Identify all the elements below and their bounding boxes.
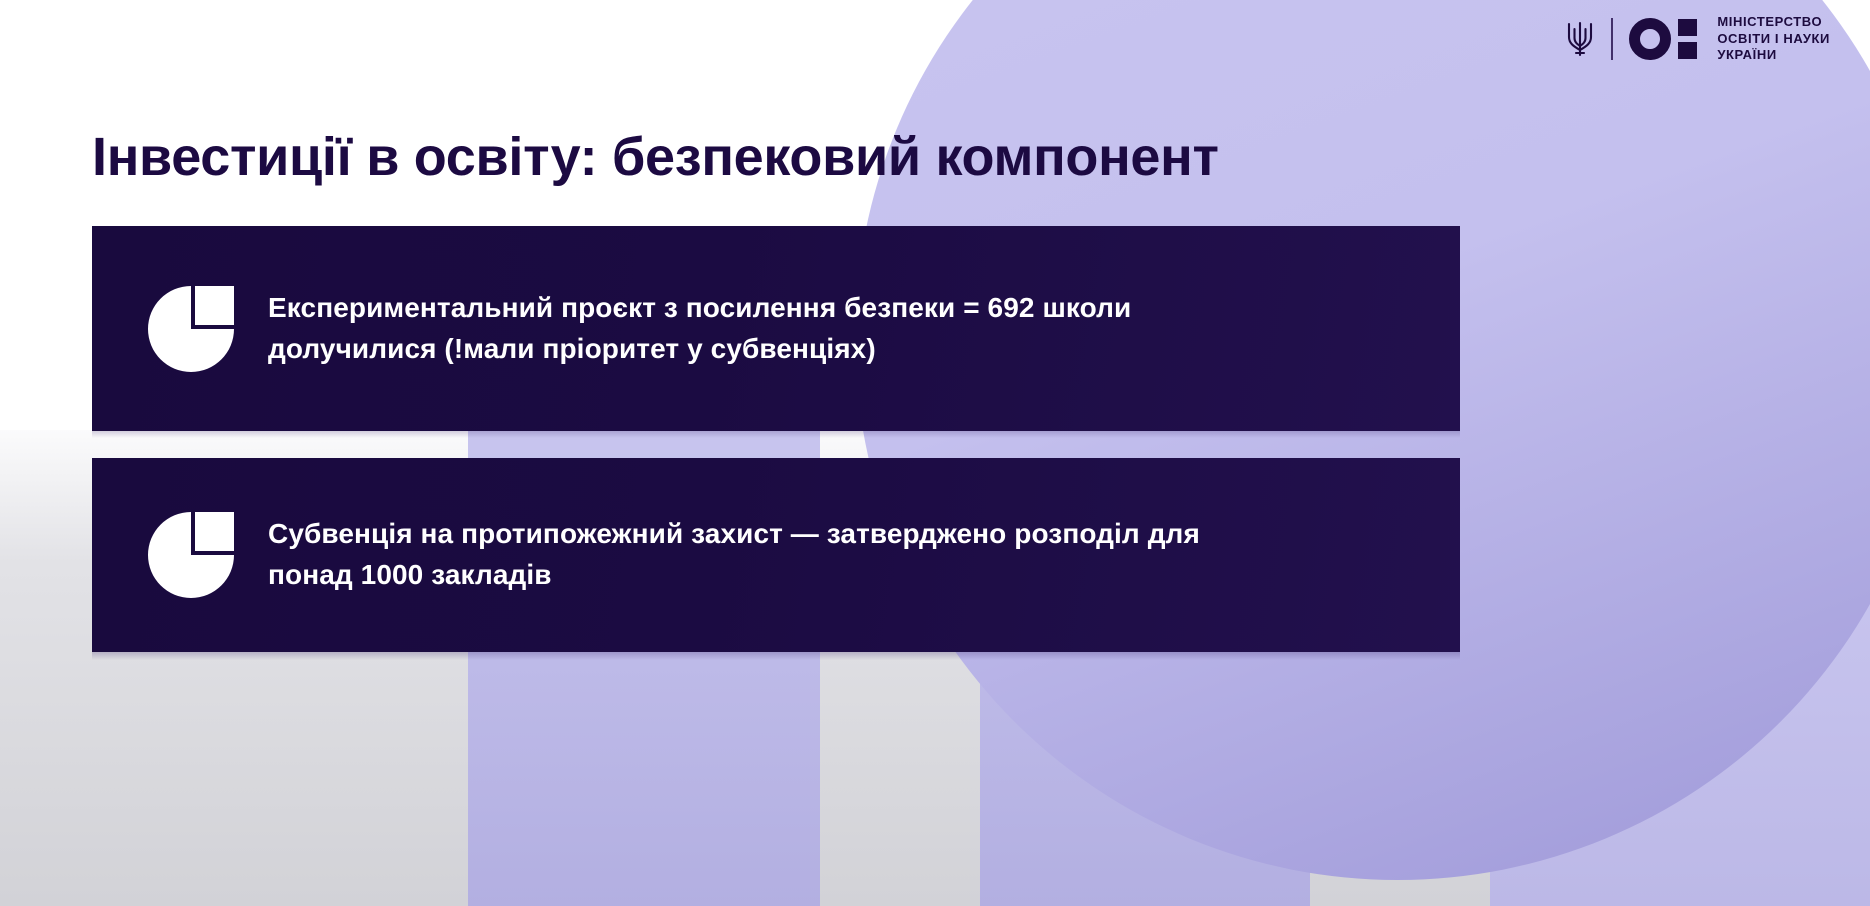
- ukraine-trident-icon: [1565, 17, 1595, 61]
- ministry-logo: МІНІСТЕРСТВО ОСВІТИ І НАУКИ УКРАЇНИ: [1565, 14, 1830, 64]
- ministry-logo-text-line-3: УКРАЇНИ: [1717, 47, 1830, 64]
- card-shadow-top: [92, 430, 1460, 438]
- quote-bullet-icon: [148, 286, 234, 372]
- mon-emblem: [1629, 18, 1697, 60]
- card-shadow-bottom: [92, 652, 1460, 660]
- ministry-logo-text: МІНІСТЕРСТВО ОСВІТИ І НАУКИ УКРАЇНИ: [1717, 14, 1830, 64]
- content-card-1-text: Експериментальний проєкт з посилення без…: [268, 288, 1131, 369]
- ministry-logo-text-line-1: МІНІСТЕРСТВО: [1717, 14, 1830, 31]
- content-card-2-line-2: понад 1000 закладів: [268, 555, 1200, 596]
- mon-ring-icon: [1629, 18, 1671, 60]
- slide-title: Інвестиції в освіту: безпековий компонен…: [92, 128, 1219, 187]
- content-card-1-line-2: долучилися (!мали пріоритет у субвенціях…: [268, 329, 1131, 370]
- content-card-2-text: Субвенція на протипожежний захист — затв…: [268, 514, 1200, 595]
- content-card-1: Експериментальний проєкт з посилення без…: [92, 226, 1460, 431]
- content-card-1-line-1: Експериментальний проєкт з посилення без…: [268, 288, 1131, 329]
- ministry-logo-text-line-2: ОСВІТИ І НАУКИ: [1717, 31, 1830, 48]
- mon-squares-icon: [1678, 19, 1697, 59]
- presentation-slide: МІНІСТЕРСТВО ОСВІТИ І НАУКИ УКРАЇНИ Інве…: [0, 0, 1870, 906]
- quote-bullet-icon: [148, 512, 234, 598]
- logo-divider: [1611, 18, 1613, 60]
- content-card-2-line-1: Субвенція на протипожежний захист — затв…: [268, 514, 1200, 555]
- content-card-2: Субвенція на протипожежний захист — затв…: [92, 458, 1460, 652]
